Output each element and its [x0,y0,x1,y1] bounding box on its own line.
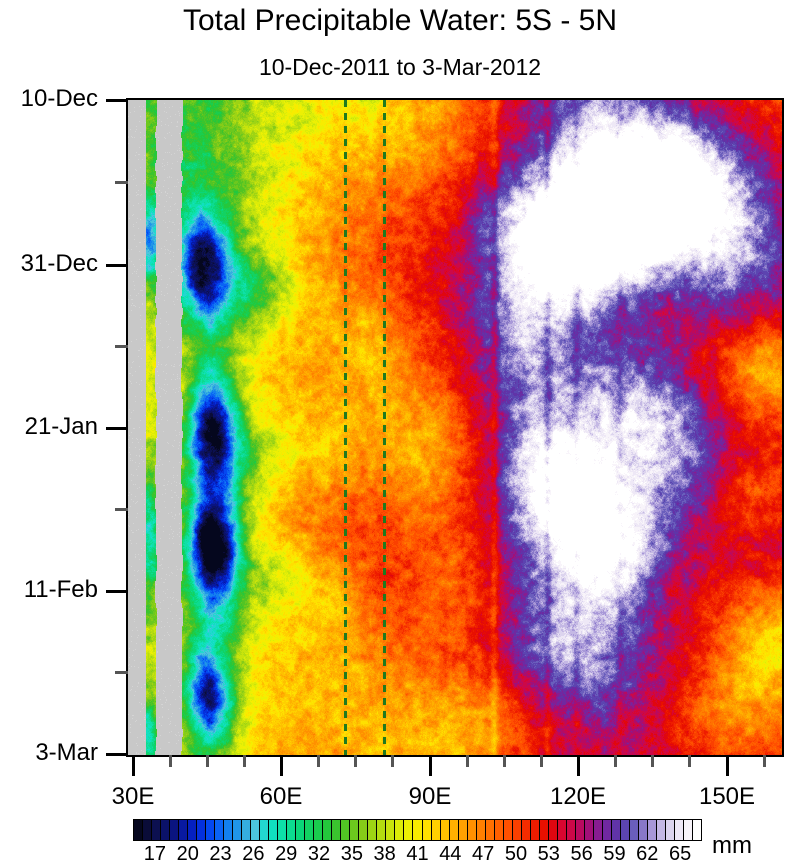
colorbar-cell [522,820,531,840]
y-tick-major [106,264,128,267]
colorbar-cell [441,820,450,840]
colorbar-cell [585,820,594,840]
colorbar-tick-label: 44 [439,843,461,866]
colorbar-cell [549,820,558,840]
colorbar-cell [314,820,323,840]
y-tick-minor [115,345,128,348]
plot-area [126,98,784,757]
colorbar-tick-label: 29 [275,843,297,866]
colorbar-cell [558,820,567,840]
colorbar-cell [612,820,621,840]
colorbar-cell [540,820,549,840]
colorbar-cell [152,820,161,840]
colorbar-tick-label: 38 [374,843,396,866]
colorbar-cell [143,820,152,840]
colorbar-cell [657,820,666,840]
colorbar-cell [477,820,486,840]
x-tick-minor [391,755,394,767]
x-tick-minor [614,755,617,767]
colorbar-cell [567,820,576,840]
colorbar-tick-label: 32 [308,843,330,866]
colorbar-cell [233,820,242,840]
colorbar-cell [423,820,432,840]
x-tick-minor [503,755,506,767]
colorbar-cell [296,820,305,840]
colorbar-cell [594,820,603,840]
y-tick-label: 31-Dec [21,250,98,278]
colorbar-cell [639,820,648,840]
reference-line [344,100,347,755]
y-tick-label: 10-Dec [21,85,98,113]
colorbar-cell [413,820,422,840]
colorbar-cell [134,820,143,840]
y-tick-major [106,590,128,593]
colorbar-cell [188,820,197,840]
colorbar-cell [495,820,504,840]
y-tick-minor [115,671,128,674]
x-tick-minor [317,755,320,767]
y-tick-label: 21-Jan [25,413,98,441]
colorbar-cell [648,820,657,840]
colorbar-tick-label: 26 [242,843,264,866]
x-tick-minor [169,755,172,767]
colorbar-cell [278,820,287,840]
x-tick-minor [354,755,357,767]
x-tick-minor [540,755,543,767]
heatmap-field [128,100,782,755]
colorbar [133,819,702,841]
x-tick-minor [243,755,246,767]
colorbar-cell [513,820,522,840]
colorbar-tick-label: 17 [144,843,166,866]
colorbar-cell [576,820,585,840]
colorbar-cell [684,820,693,840]
colorbar-cell [341,820,350,840]
x-tick-minor [763,755,766,767]
x-tick-major [577,755,580,776]
x-tick-label: 60E [260,783,303,811]
colorbar-cell [350,820,359,840]
x-tick-major [280,755,283,776]
colorbar-unit-label: mm [712,832,752,860]
colorbar-cell [468,820,477,840]
colorbar-cell [269,820,278,840]
colorbar-tick-label: 35 [341,843,363,866]
colorbar-cell [161,820,170,840]
colorbar-cell [179,820,188,840]
x-tick-major [429,755,432,776]
colorbar-tick-label: 47 [472,843,494,866]
colorbar-tick-label: 53 [538,843,560,866]
colorbar-cell [432,820,441,840]
colorbar-tick-label: 56 [571,843,593,866]
colorbar-tick-label: 20 [177,843,199,866]
colorbar-cell [332,820,341,840]
colorbar-cell [242,820,251,840]
colorbar-cell [531,820,540,840]
colorbar-cell [630,820,639,840]
colorbar-cell [450,820,459,840]
y-tick-major [106,99,128,102]
y-tick-minor [115,181,128,184]
x-tick-label: 150E [699,783,755,811]
hovmoller-figure: Total Precipitable Water: 5S - 5N 10-Dec… [0,0,800,867]
colorbar-tick-label: 41 [406,843,428,866]
colorbar-cell [386,820,395,840]
x-tick-label: 30E [112,783,155,811]
reference-line [383,100,386,755]
colorbar-tick-label: 23 [209,843,231,866]
y-tick-major [106,427,128,430]
x-tick-minor [651,755,654,767]
x-tick-minor [466,755,469,767]
colorbar-cell [359,820,368,840]
colorbar-cell [377,820,386,840]
y-tick-minor [115,508,128,511]
y-tick-major [106,753,128,756]
colorbar-cell [215,820,224,840]
x-tick-minor [206,755,209,767]
x-tick-label: 90E [409,783,452,811]
colorbar-cell [603,820,612,840]
colorbar-cell [666,820,675,840]
colorbar-cell [170,820,179,840]
x-tick-label: 120E [550,783,606,811]
y-tick-label: 3-Mar [35,739,98,767]
colorbar-tick-label: 59 [603,843,625,866]
colorbar-cell [693,820,701,840]
page-title: Total Precipitable Water: 5S - 5N [0,4,800,38]
colorbar-cell [459,820,468,840]
colorbar-cell [504,820,513,840]
colorbar-cell [197,820,206,840]
colorbar-cell [486,820,495,840]
colorbar-cell [260,820,269,840]
colorbar-cell [621,820,630,840]
x-tick-minor [688,755,691,767]
colorbar-cell [675,820,684,840]
colorbar-cell [323,820,332,840]
colorbar-cell [206,820,215,840]
colorbar-tick-label: 50 [505,843,527,866]
colorbar-tick-label: 65 [669,843,691,866]
colorbar-cell [251,820,260,840]
colorbar-cell [395,820,404,840]
colorbar-cell [287,820,296,840]
colorbar-cell [404,820,413,840]
figure-subtitle: 10-Dec-2011 to 3-Mar-2012 [0,54,800,81]
colorbar-tick-label: 62 [636,843,658,866]
colorbar-cell [224,820,233,840]
y-tick-label: 11-Feb [24,576,98,604]
colorbar-cell [368,820,377,840]
colorbar-cell [305,820,314,840]
x-tick-major [726,755,729,776]
x-tick-major [132,755,135,776]
